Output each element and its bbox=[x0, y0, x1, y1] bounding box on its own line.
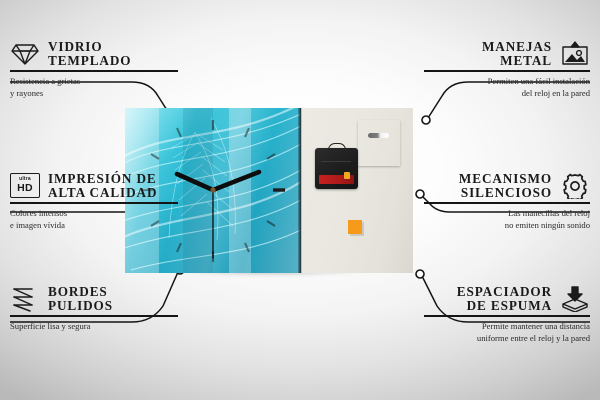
diamond-icon bbox=[10, 41, 40, 67]
feature-title-line-1: BORDES bbox=[48, 285, 113, 299]
foam-spacer-arrow-icon bbox=[560, 286, 590, 312]
feature-title-line-2: DE ESPUMA bbox=[457, 299, 552, 313]
hanger-slot bbox=[368, 133, 389, 138]
feature-title-line-2: PULIDOS bbox=[48, 299, 113, 313]
feature-title-line-2: SILENCIOSO bbox=[459, 186, 552, 200]
feature-title-line-2: METAL bbox=[482, 54, 552, 68]
divider bbox=[10, 315, 178, 317]
feature-title-line-1: ESPACIADOR bbox=[457, 285, 552, 299]
feature-mecanismo-silencioso: MECANISMO SILENCIOSO Las manecillas del … bbox=[424, 172, 590, 231]
battery-terminal bbox=[344, 172, 350, 179]
feature-description: Permite mantener una distancia uniforme … bbox=[424, 320, 590, 344]
feature-manejas-metal: MANEJAS METAL Permiten una fácil instala… bbox=[424, 40, 590, 99]
feature-title-line-1: MANEJAS bbox=[482, 40, 552, 54]
feature-description: Resistencia a grietas y rayones bbox=[10, 75, 178, 99]
divider bbox=[424, 70, 590, 72]
divider bbox=[10, 202, 178, 204]
feature-title-line-2: TEMPLADO bbox=[48, 54, 131, 68]
infographic-canvas: VIDRIO TEMPLADO Resistencia a grietas y … bbox=[0, 0, 600, 400]
divider bbox=[10, 70, 178, 72]
feature-impresion-alta-calidad: ultra HD IMPRESIÓN DE ALTA CALIDAD Color… bbox=[10, 172, 178, 231]
badge-hd-label: HD bbox=[17, 183, 33, 194]
polished-edges-icon bbox=[10, 286, 40, 312]
metal-hanger-plate bbox=[358, 120, 400, 166]
feature-title-line-2: ALTA CALIDAD bbox=[48, 186, 157, 200]
movement-seam bbox=[321, 161, 351, 162]
wall-hanger-frame-icon bbox=[560, 41, 590, 67]
feature-description: Las manecillas del reloj no emiten ningú… bbox=[424, 207, 590, 231]
feature-title-line-1: IMPRESIÓN DE bbox=[48, 172, 157, 186]
gear-icon bbox=[560, 173, 590, 199]
divider bbox=[424, 202, 590, 204]
feature-vidrio-templado: VIDRIO TEMPLADO Resistencia a grietas y … bbox=[10, 40, 178, 99]
movement-hook bbox=[328, 143, 346, 153]
clock-back-panel bbox=[301, 108, 413, 273]
feature-title-line-1: VIDRIO bbox=[48, 40, 131, 54]
quartz-movement-box bbox=[315, 148, 358, 189]
ultra-hd-badge-icon: ultra HD bbox=[10, 173, 40, 198]
feature-espaciador-espuma: ESPACIADOR DE ESPUMA Permite mantener un… bbox=[424, 285, 590, 344]
foam-spacer bbox=[348, 220, 362, 234]
feature-description: Permiten una fácil instalación del reloj… bbox=[424, 75, 590, 99]
feature-title-line-1: MECANISMO bbox=[459, 172, 552, 186]
feature-description: Colores intensos e imagen vívida bbox=[10, 207, 178, 231]
feature-bordes-pulidos: BORDES PULIDOS Superficie lisa y segura bbox=[10, 285, 178, 332]
feature-description: Superficie lisa y segura bbox=[10, 320, 178, 332]
divider bbox=[424, 315, 590, 317]
